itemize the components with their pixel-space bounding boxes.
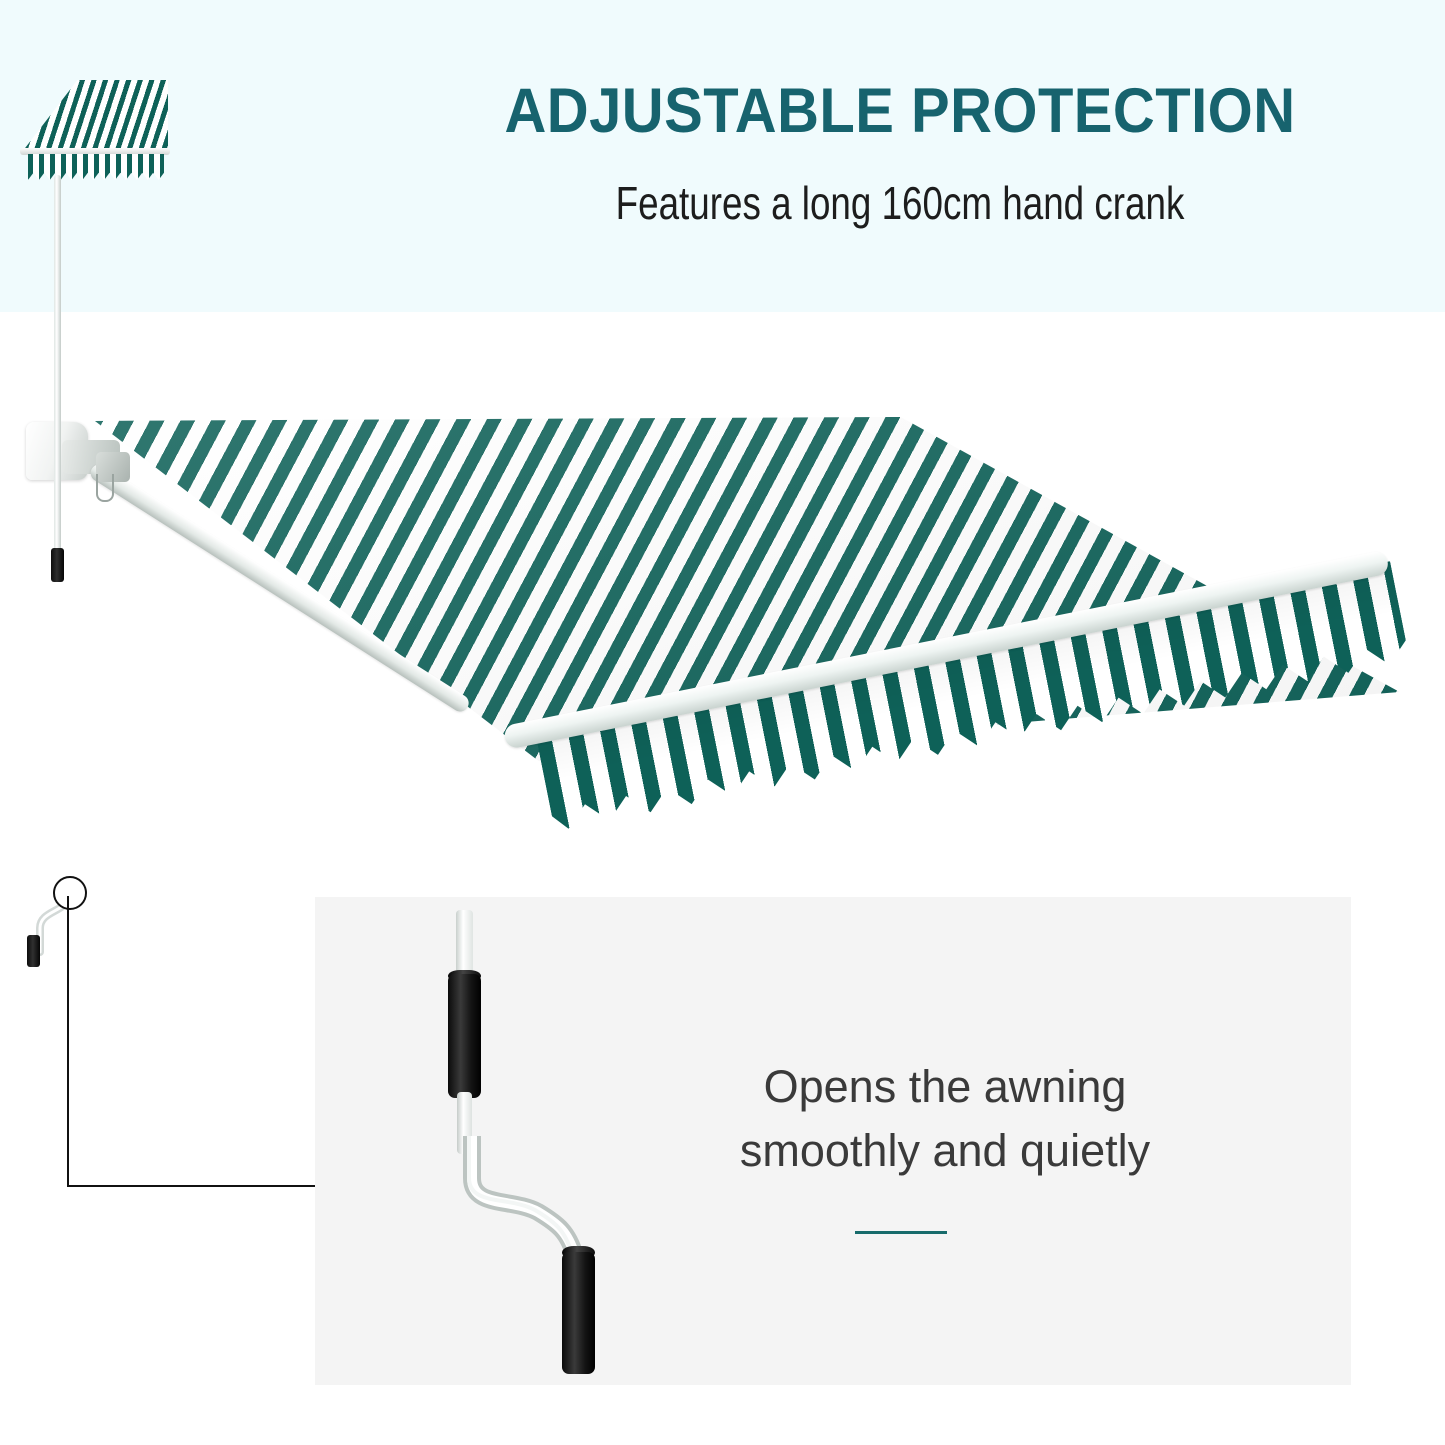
product-photo xyxy=(0,312,1445,912)
crank-rod xyxy=(54,175,61,555)
awning-icon xyxy=(14,72,174,182)
awning-icon-valance xyxy=(28,154,164,180)
product-marketing-image: ADJUSTABLE PROTECTION Features a long 16… xyxy=(0,0,1445,1445)
awning-icon-canopy xyxy=(22,80,168,152)
crank-rod-upper-grip xyxy=(51,548,64,582)
callout-leader-horizontal xyxy=(67,1185,317,1187)
callout-leader-vertical xyxy=(67,896,69,1186)
feature-caption: Opens the awning smoothly and quietly xyxy=(705,1055,1185,1183)
support-arm-hook xyxy=(96,474,114,502)
feature-divider xyxy=(855,1231,947,1234)
page-subtitle: Features a long 160cm hand crank xyxy=(496,176,1304,230)
awning-icon-front-bar xyxy=(20,148,170,155)
hand-crank-handle xyxy=(430,910,650,1380)
crank-rod-lower-grip xyxy=(27,935,40,967)
feature-caption-line-2: smoothly and quietly xyxy=(705,1119,1185,1183)
feature-caption-line-1: Opens the awning xyxy=(705,1055,1185,1119)
crank-grip-top xyxy=(448,974,481,1098)
header-band: ADJUSTABLE PROTECTION Features a long 16… xyxy=(0,0,1445,312)
crank-grip-bottom xyxy=(562,1252,595,1374)
crank-circle-marker xyxy=(53,876,87,910)
page-title: ADJUSTABLE PROTECTION xyxy=(435,78,1364,144)
